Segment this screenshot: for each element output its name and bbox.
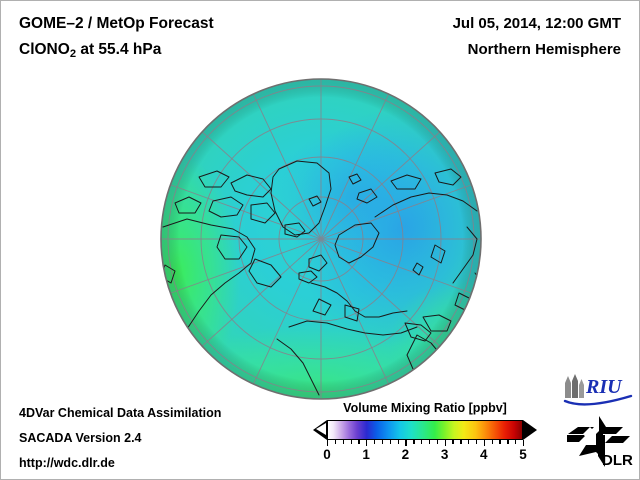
colorbar-minor-tick: [351, 440, 352, 444]
colorbar-tick-label: 0: [323, 447, 331, 462]
colorbar-bar: 012345: [313, 420, 537, 440]
colorbar-over-arrow: [523, 420, 537, 440]
species-name: ClONO: [19, 41, 70, 58]
colorbar-tick-label: 5: [519, 447, 527, 462]
colorbar-major-tick: [484, 440, 485, 446]
colorbar-title: Volume Mixing Ratio [ppbv]: [313, 401, 537, 415]
colorbar-major-tick: [327, 440, 328, 446]
dlr-logo: DLR: [566, 415, 636, 469]
colorbar-major-tick: [366, 440, 367, 446]
colorbar-minor-tick: [398, 440, 399, 444]
colorbar-under-arrow-fill: [316, 423, 326, 435]
colorbar-minor-tick: [390, 440, 391, 444]
figure-canvas: GOME–2 / MetOp Forecast ClONO2 at 55.4 h…: [0, 0, 640, 480]
colorbar-minor-tick: [460, 440, 461, 444]
colorbar-minor-tick: [476, 440, 477, 444]
colorbar-tick-label: 4: [480, 447, 488, 462]
colorbar-minor-tick: [499, 440, 500, 444]
colorbar-gradient: [327, 420, 523, 440]
colorbar-major-tick: [445, 440, 446, 446]
colorbar-ticks: [327, 440, 523, 446]
page-title: GOME–2 / MetOp Forecast: [19, 15, 214, 33]
colorbar-minor-tick: [468, 440, 469, 444]
colorbar-minor-tick: [382, 440, 383, 444]
colorbar-tick-labels: 012345: [327, 447, 523, 465]
colorbar-minor-tick: [492, 440, 493, 444]
colorbar-minor-tick: [507, 440, 508, 444]
colorbar-tick-label: 2: [402, 447, 410, 462]
colorbar-minor-tick: [421, 440, 422, 444]
colorbar-minor-tick: [437, 440, 438, 444]
orthographic-projection: [159, 77, 483, 401]
timestamp-label: Jul 05, 2014, 12:00 GMT: [453, 15, 621, 32]
species-title: ClONO2 at 55.4 hPa: [19, 41, 161, 60]
globe-map: [159, 77, 483, 401]
colorbar-minor-tick: [452, 440, 453, 444]
colorbar-minor-tick: [374, 440, 375, 444]
riu-logo: RIU: [561, 372, 633, 406]
colorbar-minor-tick: [515, 440, 516, 444]
riu-wordmark: RIU: [585, 376, 623, 398]
colorbar-major-tick: [405, 440, 406, 446]
colorbar-major-tick: [523, 440, 524, 446]
hemisphere-label: Northern Hemisphere: [468, 41, 621, 58]
colorbar-tick-label: 3: [441, 447, 449, 462]
credit-line-2: SACADA Version 2.4: [19, 431, 142, 445]
colorbar-minor-tick: [429, 440, 430, 444]
colorbar-tick-label: 1: [362, 447, 370, 462]
credit-line-1: 4DVar Chemical Data Assimilation: [19, 406, 221, 420]
pressure-level: at 55.4 hPa: [76, 41, 161, 58]
dlr-wordmark: DLR: [602, 452, 633, 469]
colorbar-minor-tick: [343, 440, 344, 444]
colorbar-minor-tick: [335, 440, 336, 444]
colorbar-minor-tick: [358, 440, 359, 444]
riu-spires-icon: [565, 374, 584, 398]
colorbar-minor-tick: [413, 440, 414, 444]
credit-line-3[interactable]: http://wdc.dlr.de: [19, 456, 115, 470]
colorbar: Volume Mixing Ratio [ppbv] 012345: [313, 401, 537, 440]
